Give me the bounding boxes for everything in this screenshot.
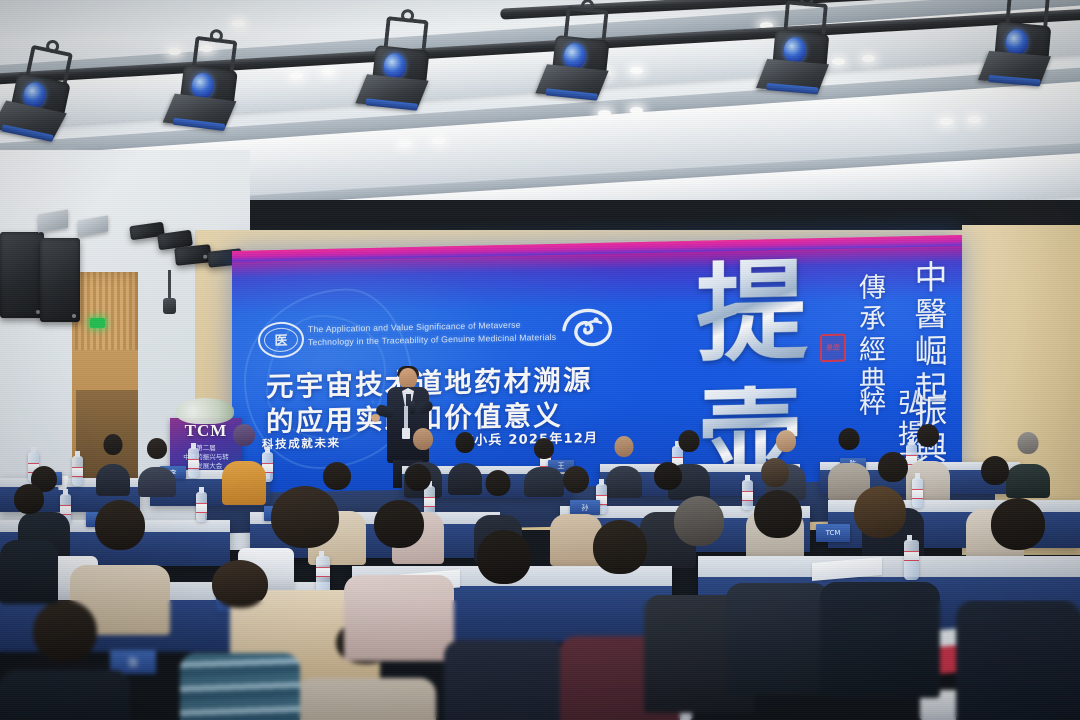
audience-member xyxy=(444,530,564,720)
emblem-glyph: 医 xyxy=(274,333,287,346)
downlight xyxy=(432,137,445,144)
audience-member xyxy=(180,560,300,720)
audience-member xyxy=(70,500,170,612)
head xyxy=(593,520,647,574)
head xyxy=(95,500,145,550)
head xyxy=(374,500,424,548)
torso xyxy=(344,575,454,661)
water-bottle xyxy=(196,492,207,522)
audience-member xyxy=(606,436,642,488)
head xyxy=(104,434,123,455)
head xyxy=(14,484,44,514)
head xyxy=(754,490,802,538)
presenter-hand-left xyxy=(371,414,380,422)
downlight xyxy=(232,20,245,27)
head xyxy=(477,530,531,584)
presenter-head xyxy=(399,368,417,389)
head xyxy=(534,438,554,459)
head xyxy=(1018,432,1039,454)
head xyxy=(413,428,433,450)
presenter-lanyard xyxy=(404,406,408,430)
flower-arrangement xyxy=(176,398,234,424)
head xyxy=(147,438,167,459)
screen-english-subtitle: The Application and Value Significance o… xyxy=(308,318,558,350)
head xyxy=(917,424,939,447)
head xyxy=(456,432,475,453)
audience-member xyxy=(138,438,176,488)
seal-stamp-top: 悬壶 xyxy=(820,334,846,363)
stage-light-fixture xyxy=(986,0,1064,89)
torso xyxy=(96,464,130,496)
head xyxy=(761,458,789,487)
head xyxy=(405,464,431,491)
exit-sign xyxy=(90,318,105,328)
audience-member xyxy=(0,484,58,580)
audience-member xyxy=(344,500,454,630)
water-bottle xyxy=(188,448,199,478)
torso xyxy=(444,640,564,720)
downlight xyxy=(940,118,953,125)
torso xyxy=(820,582,940,698)
torso xyxy=(0,540,58,604)
torso xyxy=(138,467,176,497)
head xyxy=(212,560,268,608)
hanging-microphone-icon xyxy=(168,270,171,300)
downlight xyxy=(598,110,611,117)
torso xyxy=(726,583,830,695)
audience-member xyxy=(222,424,266,488)
downlight xyxy=(290,72,303,79)
torso xyxy=(606,466,642,498)
water-bottle xyxy=(72,456,83,486)
head xyxy=(991,498,1045,550)
head xyxy=(654,462,682,490)
head-with-hat xyxy=(233,424,255,446)
stage-light-fixture xyxy=(764,0,842,97)
stage-light-fixture xyxy=(363,15,442,114)
audience-member xyxy=(820,486,940,652)
stage-light-fixture xyxy=(543,5,622,104)
head xyxy=(674,496,724,546)
torso xyxy=(0,670,130,720)
downlight xyxy=(630,67,643,74)
head xyxy=(839,428,860,450)
audience-member xyxy=(0,600,130,720)
speaker-cabinet xyxy=(0,232,44,318)
head xyxy=(679,430,700,452)
downlight xyxy=(322,68,335,75)
head xyxy=(271,486,339,548)
head xyxy=(563,466,589,493)
head xyxy=(33,600,97,662)
calligraphy-glyph-top: 提 xyxy=(696,258,808,363)
speaker-cabinet xyxy=(174,244,212,266)
downlight xyxy=(968,116,981,123)
head xyxy=(981,456,1009,485)
screen-tagline: 科技成就未来 xyxy=(262,435,341,453)
torso xyxy=(956,601,1080,720)
torso xyxy=(296,678,436,720)
audience-member xyxy=(726,490,830,650)
head xyxy=(878,452,908,482)
handheld-microphone-icon xyxy=(410,401,415,414)
emblem-inner-ring: 医 xyxy=(264,328,298,353)
phoenix-emblem-icon xyxy=(556,303,616,354)
head xyxy=(854,486,906,538)
downlight xyxy=(862,55,875,62)
stage-light-fixture xyxy=(0,42,87,147)
head xyxy=(615,436,634,457)
head xyxy=(776,430,796,452)
audience-member xyxy=(956,498,1080,676)
downlight xyxy=(630,107,643,114)
downlight xyxy=(398,140,411,147)
striped-sweater xyxy=(180,653,300,720)
speaker-cabinet xyxy=(40,238,80,322)
audience-member xyxy=(96,434,130,486)
stage-light-fixture xyxy=(171,34,252,134)
head xyxy=(486,470,511,496)
conference-hall-photo: 医 The Application and Value Significance… xyxy=(0,0,1080,720)
